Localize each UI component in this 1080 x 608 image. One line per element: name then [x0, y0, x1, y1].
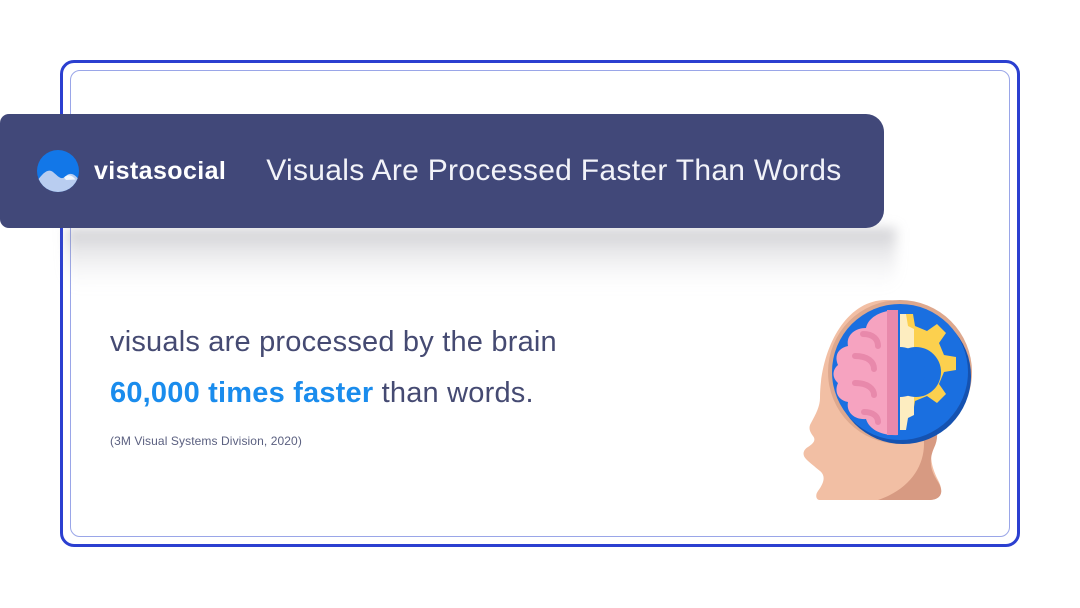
header-bar: vistasocial Visuals Are Processed Faster…: [0, 114, 884, 228]
brand-wordmark: vistasocial: [94, 157, 226, 186]
stat-line-secondary: 60,000 times faster than words.: [110, 379, 730, 408]
stat-text-block: visuals are processed by the brain 60,00…: [110, 328, 730, 448]
head-with-brain-and-gear-illustration: [758, 288, 988, 536]
stat-line-primary: visuals are processed by the brain: [110, 328, 730, 357]
stat-highlight-value: 60,000 times faster: [110, 377, 373, 409]
vistasocial-logo-icon: [36, 149, 80, 193]
page-title: Visuals Are Processed Faster Than Words: [266, 154, 841, 188]
stat-citation: (3M Visual Systems Division, 2020): [110, 434, 730, 448]
header-bar-shadow: [66, 228, 896, 290]
stat-line-tail: than words.: [373, 377, 533, 409]
